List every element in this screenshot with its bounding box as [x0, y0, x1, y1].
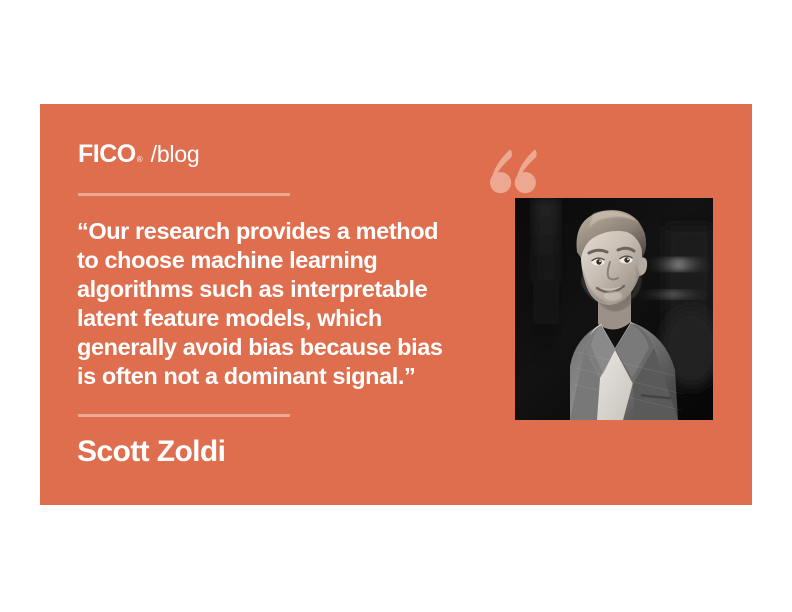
brand-name: FICO: [78, 142, 136, 167]
divider-top: [78, 193, 290, 196]
quote-mark-icon: [489, 148, 539, 194]
attribution-name: Scott Zoldi: [77, 434, 225, 470]
quote-text: “Our research provides a method to choos…: [77, 217, 507, 391]
quote-card: FICO ® /blog “Our research provides a me…: [40, 104, 752, 505]
brand-suffix: /blog: [151, 143, 200, 166]
registered-trademark-icon: ®: [137, 156, 143, 164]
brand-logo[interactable]: FICO ® /blog: [78, 142, 200, 167]
divider-bottom: [78, 414, 290, 417]
portrait-photo: [515, 198, 713, 420]
